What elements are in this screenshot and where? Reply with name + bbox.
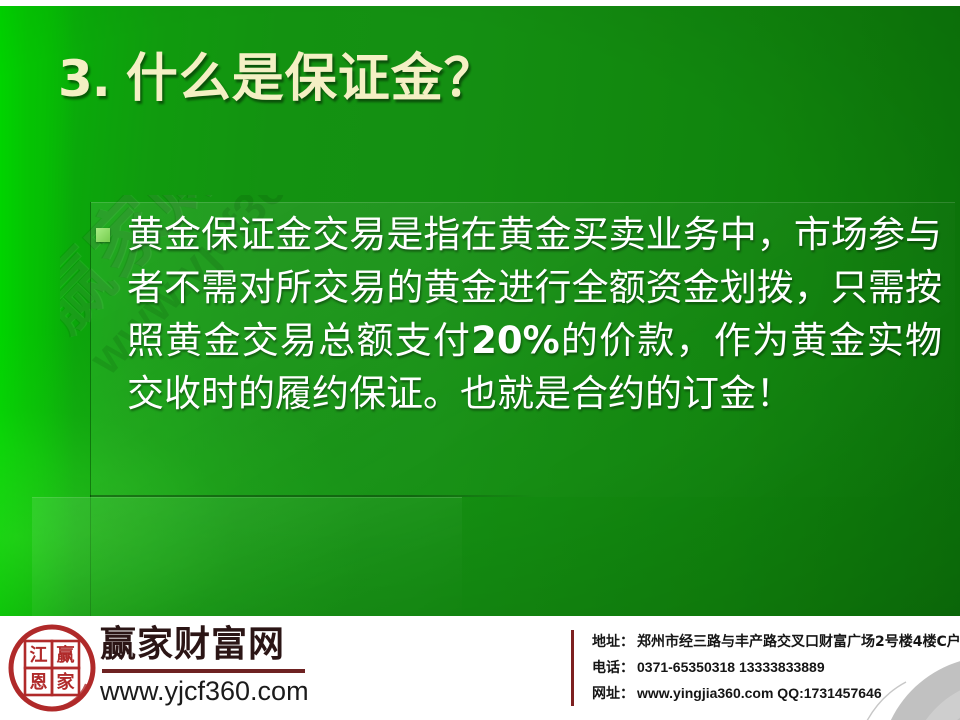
bullet-square-icon <box>96 228 110 242</box>
contact-label-website: 网址： <box>592 682 634 707</box>
svg-text:赢: 赢 <box>57 644 75 666</box>
contact-value-phone: 0371-65350318 13333833889 <box>637 655 825 680</box>
svg-text:江: 江 <box>30 645 48 666</box>
page-title: 3.什么是保证金？ <box>58 36 497 111</box>
contact-value-website[interactable]: www.yingjia360.com QQ:1731457646 <box>637 681 882 706</box>
contact-block: 地址： 郑州市经三路与丰产路交叉口财富广场2号楼4楼C户 电话： 0371-65… <box>592 630 960 707</box>
slide-canvas: 赢家财富网 www.yjcf360.com 3.什么是保证金？ 黄金保证金交易是… <box>0 0 960 720</box>
body-paragraph: 黄金保证金交易是指在黄金买卖业务中，市场参与者不需对所交易的黄金进行全额资金划拨… <box>127 208 942 420</box>
body-bullet-item: 黄金保证金交易是指在黄金买卖业务中，市场参与者不需对所交易的黄金进行全额资金划拨… <box>96 208 942 420</box>
title-number: 3. <box>58 50 110 108</box>
brand-name: 赢家财富网 <box>100 624 350 666</box>
top-white-strip <box>0 0 960 6</box>
contact-label-address: 地址： <box>592 630 634 655</box>
contact-row: 地址： 郑州市经三路与丰产路交叉口财富广场2号楼4楼C户 <box>592 630 960 655</box>
contact-value-address: 郑州市经三路与丰产路交叉口财富广场2号楼4楼C户 <box>637 630 960 655</box>
contact-row: 电话： 0371-65350318 13333833889 <box>592 655 960 681</box>
red-seal-stamp-icon: 江 赢 恩 家 <box>8 622 96 714</box>
contact-label-phone: 电话： <box>592 656 634 681</box>
contact-row: 网址： www.yingjia360.com QQ:1731457646 <box>592 681 960 707</box>
footer-bar: 江 赢 恩 家 赢家财富网 www.yjcf360.com 地址： 郑州市经三路… <box>0 616 960 720</box>
brand-block[interactable]: 赢家财富网 www.yjcf360.com <box>100 624 350 707</box>
title-heading: 什么是保证金？ <box>126 48 497 109</box>
footer-divider <box>571 630 574 706</box>
brand-underline <box>102 669 305 673</box>
svg-text:家: 家 <box>57 671 76 693</box>
body-highlight-percent: 20% <box>471 319 560 362</box>
brand-url[interactable]: www.yjcf360.com <box>100 675 350 707</box>
svg-text:恩: 恩 <box>30 672 48 693</box>
